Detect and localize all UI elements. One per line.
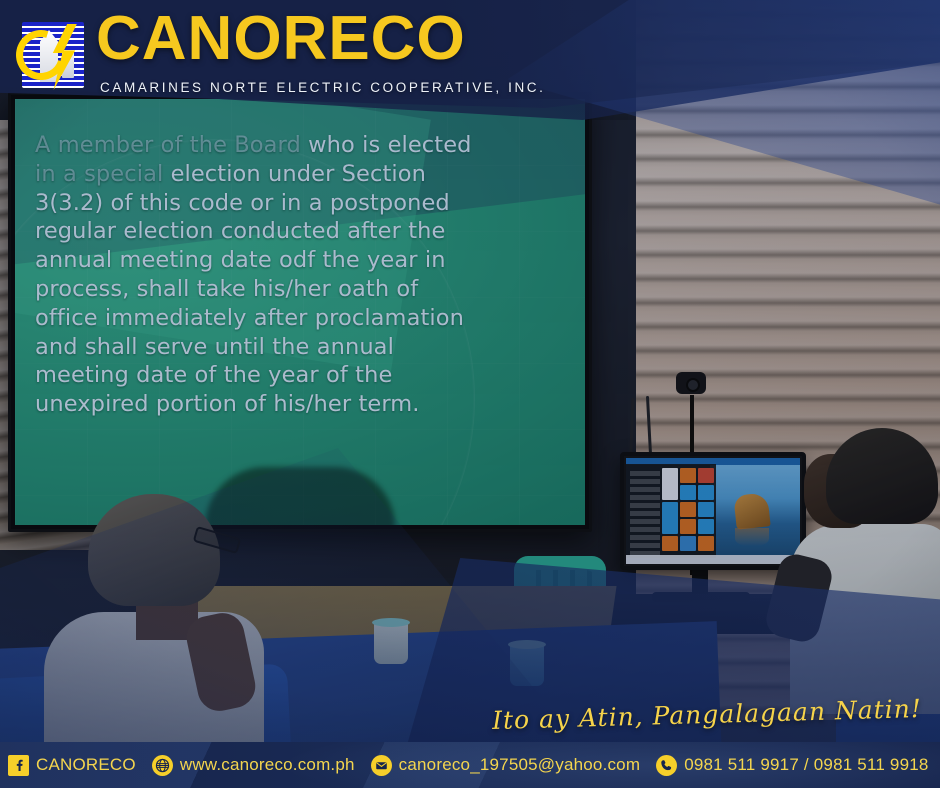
start-tile [680, 519, 696, 534]
start-app-item [630, 543, 661, 548]
slide-line-6: process, shall take his/her oath of [35, 275, 567, 304]
slide-line-8: and shall serve until the annual [35, 333, 567, 362]
footer-label-phone: 0981 511 9917 / 0981 511 9918 [684, 755, 928, 775]
footer-item-website[interactable]: www.canoreco.com.ph [152, 755, 355, 776]
start-app-list [630, 468, 661, 554]
start-tile [698, 485, 714, 500]
start-tile [698, 536, 714, 551]
projected-slide: A member of the Board who is elected in … [15, 99, 585, 525]
monitor-stand [692, 568, 708, 594]
start-app-item [630, 479, 661, 484]
start-tile [698, 468, 714, 483]
paper-cup-blue [510, 644, 544, 686]
footer-label-facebook: CANORECO [36, 755, 136, 775]
paper-cup [374, 622, 408, 664]
footer-label-website: www.canoreco.com.ph [180, 755, 355, 775]
start-app-item [630, 527, 661, 532]
start-tile [662, 468, 678, 500]
footer-item-email[interactable]: canoreco_197505@yahoo.com [371, 755, 641, 776]
desktop-monitor [620, 452, 806, 570]
footer-item-facebook[interactable]: CANORECO [8, 755, 136, 776]
start-app-item [630, 503, 661, 508]
slide-line-1-dim: A member of the Board [35, 132, 301, 158]
footer-item-phone[interactable]: 0981 511 9917 / 0981 511 9918 [656, 755, 928, 776]
slide-line-10: unexpired portion of his/her term. [35, 390, 567, 419]
slide-line-1: who is elected [301, 132, 472, 158]
slide-line-4: regular election conducted after the [35, 217, 567, 246]
slide-line-2: election under Section [163, 161, 426, 187]
seated-man-right [782, 428, 940, 728]
contact-footer: CANORECO www.canoreco.com.ph canoreco_19… [0, 742, 940, 788]
slide-body-text: A member of the Board who is elected in … [35, 131, 567, 419]
footer-label-email: canoreco_197505@yahoo.com [399, 755, 641, 775]
globe-icon [152, 755, 173, 776]
facebook-icon [8, 755, 29, 776]
canoreco-social-post: A member of the Board who is elected in … [0, 0, 940, 788]
start-app-item [630, 535, 661, 540]
canoreco-logo [14, 16, 92, 94]
email-icon [371, 755, 392, 776]
start-app-item [630, 519, 661, 524]
slide-line-3: 3(3.2) of this code or in a postponed [35, 189, 567, 218]
slide-line-7: office immediately after proclamation [35, 304, 567, 333]
start-tile [698, 502, 714, 517]
start-tile [680, 485, 696, 500]
projection-screen: A member of the Board who is elected in … [8, 92, 592, 532]
start-tile [662, 536, 678, 551]
webcam-icon [676, 372, 706, 394]
wallpaper-rock-reflection [735, 528, 769, 546]
start-tiles [662, 468, 714, 552]
start-app-item [630, 487, 661, 492]
start-app-item [630, 511, 661, 516]
seated-man-left [44, 494, 274, 734]
start-tile [680, 536, 696, 551]
start-tile [662, 502, 678, 534]
start-app-item [630, 495, 661, 500]
slide-line-5: annual meeting date odf the year in [35, 246, 567, 275]
start-tile [698, 519, 714, 534]
slide-line-9: meeting date of the year of the [35, 361, 567, 390]
header: CANORECO CAMARINES NORTE ELECTRIC COOPER… [0, 0, 940, 108]
start-tile [680, 468, 696, 483]
brand-subtitle: CAMARINES NORTE ELECTRIC COOPERATIVE, IN… [100, 80, 546, 95]
windows-start-menu [626, 464, 716, 557]
phone-icon [656, 755, 677, 776]
windows-taskbar [626, 555, 800, 564]
right-man-head [826, 428, 938, 524]
start-app-item [630, 471, 661, 476]
start-tile [680, 502, 696, 517]
monitor-screen [626, 458, 800, 564]
meeting-room-photo: A member of the Board who is elected in … [0, 0, 940, 788]
page-title: CANORECO [96, 8, 466, 70]
left-man-head [88, 494, 220, 606]
slide-line-2-dim: in a special [35, 161, 163, 187]
